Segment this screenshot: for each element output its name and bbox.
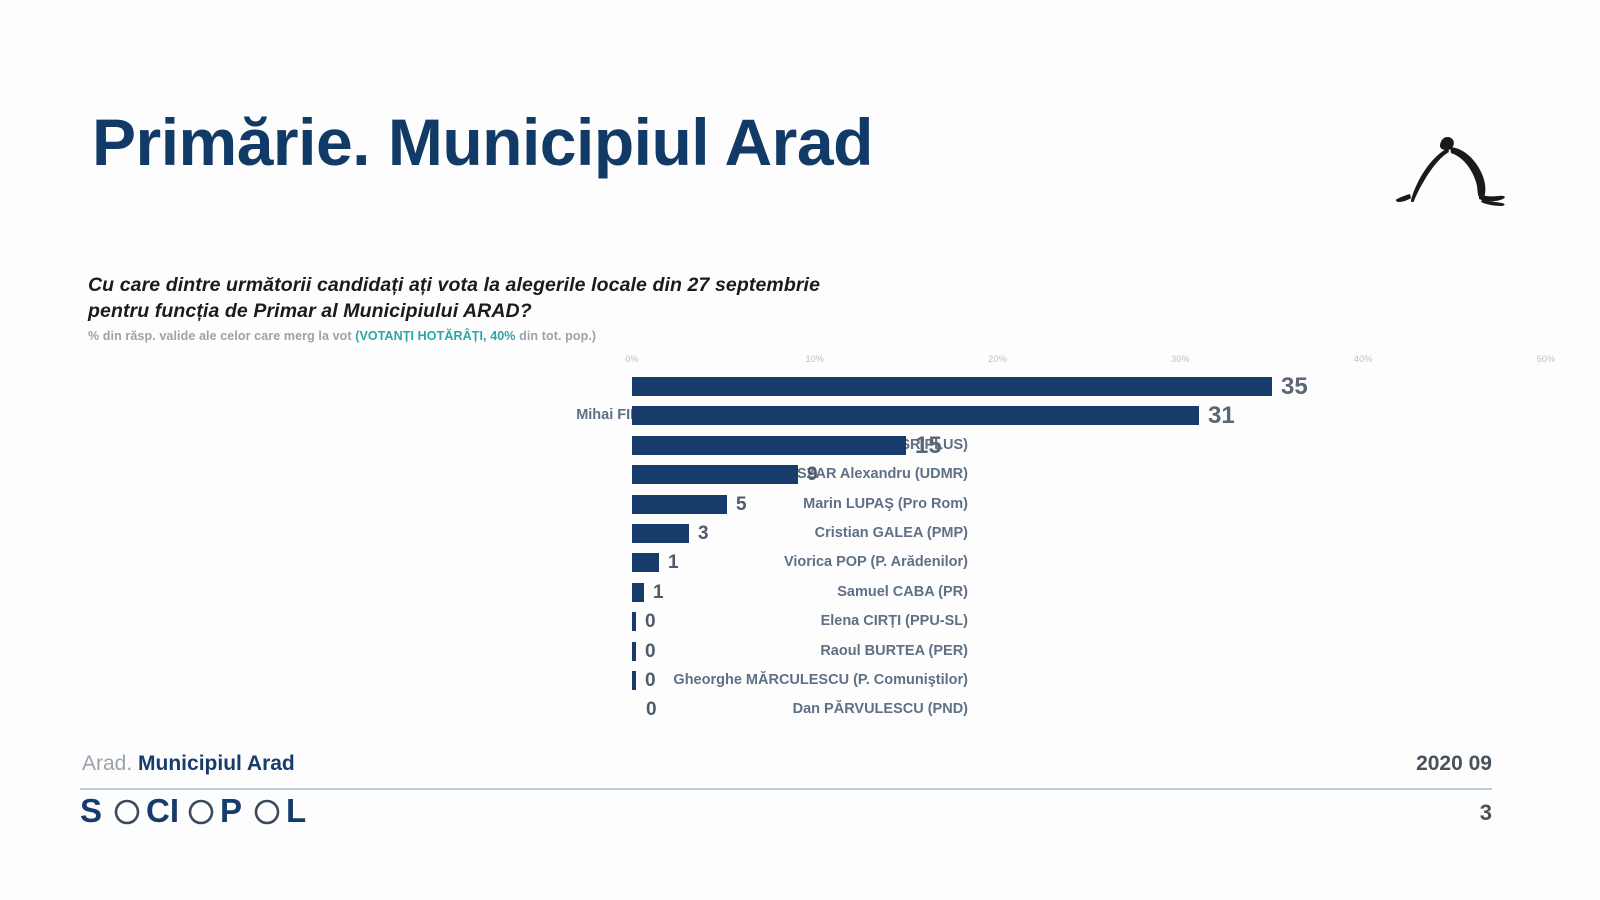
bar-value-label: 0 — [645, 666, 656, 695]
x-axis: 0%10%20%30%40%50% — [0, 350, 1600, 372]
bar-category-label-text: Viorica POP (P. Arădenilor) — [784, 548, 968, 577]
bar — [632, 553, 659, 572]
question-line-2: pentru funcția de Primar al Municipiului… — [88, 298, 1088, 324]
bar-row: Dan PĂRVULESCU (PND)0 — [0, 695, 1600, 724]
bar-row: Marin LUPAŞ (Pro Rom)5 — [0, 490, 1600, 519]
footer-divider — [80, 788, 1492, 790]
bar-category-label-text: Dan PĂRVULESCU (PND) — [793, 695, 968, 724]
x-axis-tick: 0% — [625, 354, 638, 364]
question-subtitle: % din răsp. valide ale celor care merg l… — [88, 329, 1088, 343]
bar-row: Gheorghe MĂRCULESCU (P. Comuniştilor)0 — [0, 666, 1600, 695]
bar-value-label: 31 — [1208, 401, 1235, 430]
page-title: Primărie. Municipiul Arad — [92, 104, 873, 180]
svg-text:L: L — [286, 794, 306, 829]
bar — [632, 524, 689, 543]
subtitle-prefix: % din răsp. valide ale celor care merg l… — [88, 329, 355, 343]
bar-row: Raoul BURTEA (PER)0 — [0, 637, 1600, 666]
page-number: 3 — [1480, 800, 1492, 826]
svg-text:CI: CI — [146, 794, 179, 829]
bar-value-label: 1 — [653, 578, 664, 607]
x-axis-tick: 10% — [805, 354, 824, 364]
bar-value-label: 0 — [645, 637, 656, 666]
bar-value-label: 9 — [807, 460, 818, 489]
bar-value-label: 0 — [646, 695, 657, 724]
bar — [632, 583, 644, 602]
bar-value-label: 0 — [645, 607, 656, 636]
bar-value-label: 3 — [698, 519, 709, 548]
bar — [632, 436, 906, 455]
bar-value-label: 1 — [668, 548, 679, 577]
footer-caption: Arad. Municipiul Arad — [82, 752, 295, 776]
bar — [632, 465, 798, 484]
bar-category-label-text: MESZAR Alexandru (UDMR) — [775, 460, 968, 489]
bar-category-label-text: Raoul BURTEA (PER) — [820, 637, 968, 666]
subtitle-highlight: (VOTANȚI HOTĂRÂȚI, 40% — [355, 329, 515, 343]
bar-row: Cristian GALEA (PMP)3 — [0, 519, 1600, 548]
bar-value-label: 35 — [1281, 372, 1308, 401]
footer-caption-light: Arad. — [82, 752, 138, 775]
bar — [632, 377, 1272, 396]
bar — [632, 642, 636, 661]
question-block: Cu care dintre următorii candidați ați v… — [88, 272, 1088, 343]
brush-figure-logo — [1378, 112, 1518, 212]
bar-value-label: 5 — [736, 490, 747, 519]
bar-category-label-text: Cristian GALEA (PMP) — [815, 519, 968, 548]
bar-category-label-text: Elena CIRȚI (PPU-SL) — [821, 607, 968, 636]
x-axis-tick: 20% — [988, 354, 1007, 364]
bar — [632, 671, 636, 690]
split-circle-glyph-2 — [190, 801, 212, 823]
bar — [632, 495, 727, 514]
bar-value-label: 15 — [915, 431, 942, 460]
bar-row: Elena CIRȚI (PPU-SL)0 — [0, 607, 1600, 636]
bar-category-label-text: Marin LUPAŞ (Pro Rom) — [803, 490, 968, 519]
x-axis-tick: 50% — [1537, 354, 1556, 364]
bar-row: Samuel CABA (PR)1 — [0, 578, 1600, 607]
x-axis-tick: 30% — [1171, 354, 1190, 364]
bar-row: Viorica POP (P. Arădenilor)1 — [0, 548, 1600, 577]
svg-text:P: P — [220, 794, 242, 829]
slide: Primărie. Municipiul Arad Cu care dintre… — [0, 0, 1600, 900]
split-circle-glyph-3 — [256, 801, 278, 823]
bar — [632, 612, 636, 631]
svg-text:S: S — [80, 794, 102, 829]
bar-row: MESZAR Alexandru (UDMR)9 — [0, 460, 1600, 489]
bar-category-label-text: Samuel CABA (PR) — [837, 578, 968, 607]
sociopol-logo: S CI P L — [80, 792, 342, 832]
bar-row: Adrian WIENER (USR PLUS)15 — [0, 431, 1600, 460]
bar — [632, 406, 1199, 425]
split-circle-glyph-1 — [116, 801, 138, 823]
bar-row: Călin BIBARȚ (PNL)35 — [0, 372, 1600, 401]
bar-rows: Călin BIBARȚ (PNL)35Mihai FIFOR (Platf. … — [0, 372, 1600, 725]
bar-row: Mihai FIFOR (Platf. Soc.-Lib. Creştină P… — [0, 401, 1600, 430]
bar-chart: 0%10%20%30%40%50% Călin BIBARȚ (PNL)35Mi… — [0, 350, 1600, 740]
subtitle-suffix: din tot. pop.) — [516, 329, 597, 343]
bar-category-label-text: Gheorghe MĂRCULESCU (P. Comuniştilor) — [673, 666, 968, 695]
footer-caption-bold: Municipiul Arad — [138, 752, 295, 775]
x-axis-tick: 40% — [1354, 354, 1373, 364]
question-line-1: Cu care dintre următorii candidați ați v… — [88, 272, 1088, 298]
footer-date: 2020 09 — [1416, 752, 1492, 776]
